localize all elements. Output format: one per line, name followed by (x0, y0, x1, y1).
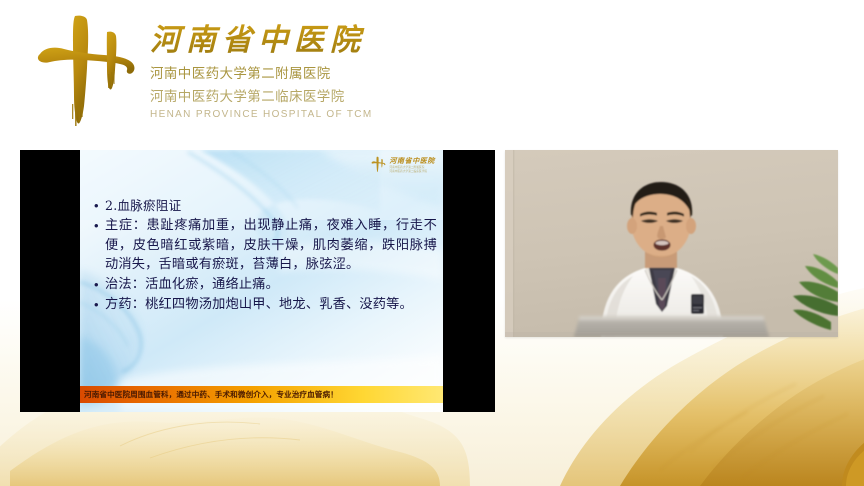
list-item: • 方药：桃红四物汤加炮山甲、地龙、乳香、没药等。 (94, 295, 437, 314)
bullet-marker: • (94, 216, 105, 235)
list-item: • 治法：活血化瘀，通络止痛。 (94, 275, 437, 294)
header: 河南省中医院 河南中医药大学第二附属医院 河南中医药大学第二临床医学院 HENA… (0, 0, 864, 140)
bullet-text: 治法：活血化瘀，通络止痛。 (105, 275, 437, 294)
hospital-subtitle-1: 河南中医药大学第二附属医院 (150, 62, 373, 82)
presentation-slide-panel[interactable]: 河南省中医院 河南中医药大学第二附属医院 河南中医药大学第二临床医学院 • 2.… (20, 150, 495, 412)
slide-watermark-title: 河南省中医院 (389, 156, 435, 166)
brush-cross-logo-icon (28, 10, 146, 128)
bullet-text: 主症：患趾疼痛加重，出现静止痛，夜难入睡，行走不便，皮色暗红或紫暗，皮肤干燥，肌… (105, 216, 437, 274)
slide-watermark-logo: 河南省中医院 河南中医药大学第二附属医院 河南中医药大学第二临床医学院 (370, 156, 435, 174)
bullet-text: 方药：桃红四物汤加炮山甲、地龙、乳香、没药等。 (105, 295, 437, 314)
bullet-marker: • (94, 295, 105, 314)
slide-bullet-list: • 2.血脉瘀阻证 • 主症：患趾疼痛加重，出现静止痛，夜难入睡，行走不便，皮色… (94, 196, 437, 316)
list-item: • 主症：患趾疼痛加重，出现静止痛，夜难入睡，行走不便，皮色暗红或紫暗，皮肤干燥… (94, 216, 437, 274)
slide-content: 河南省中医院 河南中医药大学第二附属医院 河南中医药大学第二临床医学院 • 2.… (80, 150, 443, 412)
hospital-subtitle-2: 河南中医药大学第二临床医学院 (150, 85, 373, 105)
slide-watermark-sub2: 河南中医药大学第二临床医学院 (389, 170, 435, 174)
bullet-marker: • (94, 275, 105, 294)
logo-text-block: 河南省中医院 河南中医药大学第二附属医院 河南中医药大学第二临床医学院 HENA… (150, 10, 373, 120)
slide-promo-banner-text: 河南省中医院周围血管科，通过中药、手术和微创介入，专业治疗血管病！ (84, 389, 338, 400)
hospital-subtitle-en: HENAN PROVINCE HOSPITAL OF TCM (150, 109, 373, 120)
hospital-title: 河南省中医院 (150, 24, 373, 59)
hospital-logo-icon (370, 156, 387, 173)
bullet-text: 2.血脉瘀阻证 (105, 196, 437, 215)
slide-promo-banner: 河南省中医院周围血管科，通过中药、手术和微创介入，专业治疗血管病！ (80, 386, 443, 403)
slide-watermark-text: 河南省中医院 河南中医药大学第二附属医院 河南中医药大学第二临床医学院 (389, 156, 435, 174)
list-item: • 2.血脉瘀阻证 (94, 196, 437, 215)
hospital-logo-block: 河南省中医院 河南中医药大学第二附属医院 河南中医药大学第二临床医学院 HENA… (28, 10, 373, 128)
bullet-marker: • (94, 196, 105, 215)
speaker-video-feed[interactable] (505, 150, 838, 337)
video-scene (505, 150, 838, 337)
